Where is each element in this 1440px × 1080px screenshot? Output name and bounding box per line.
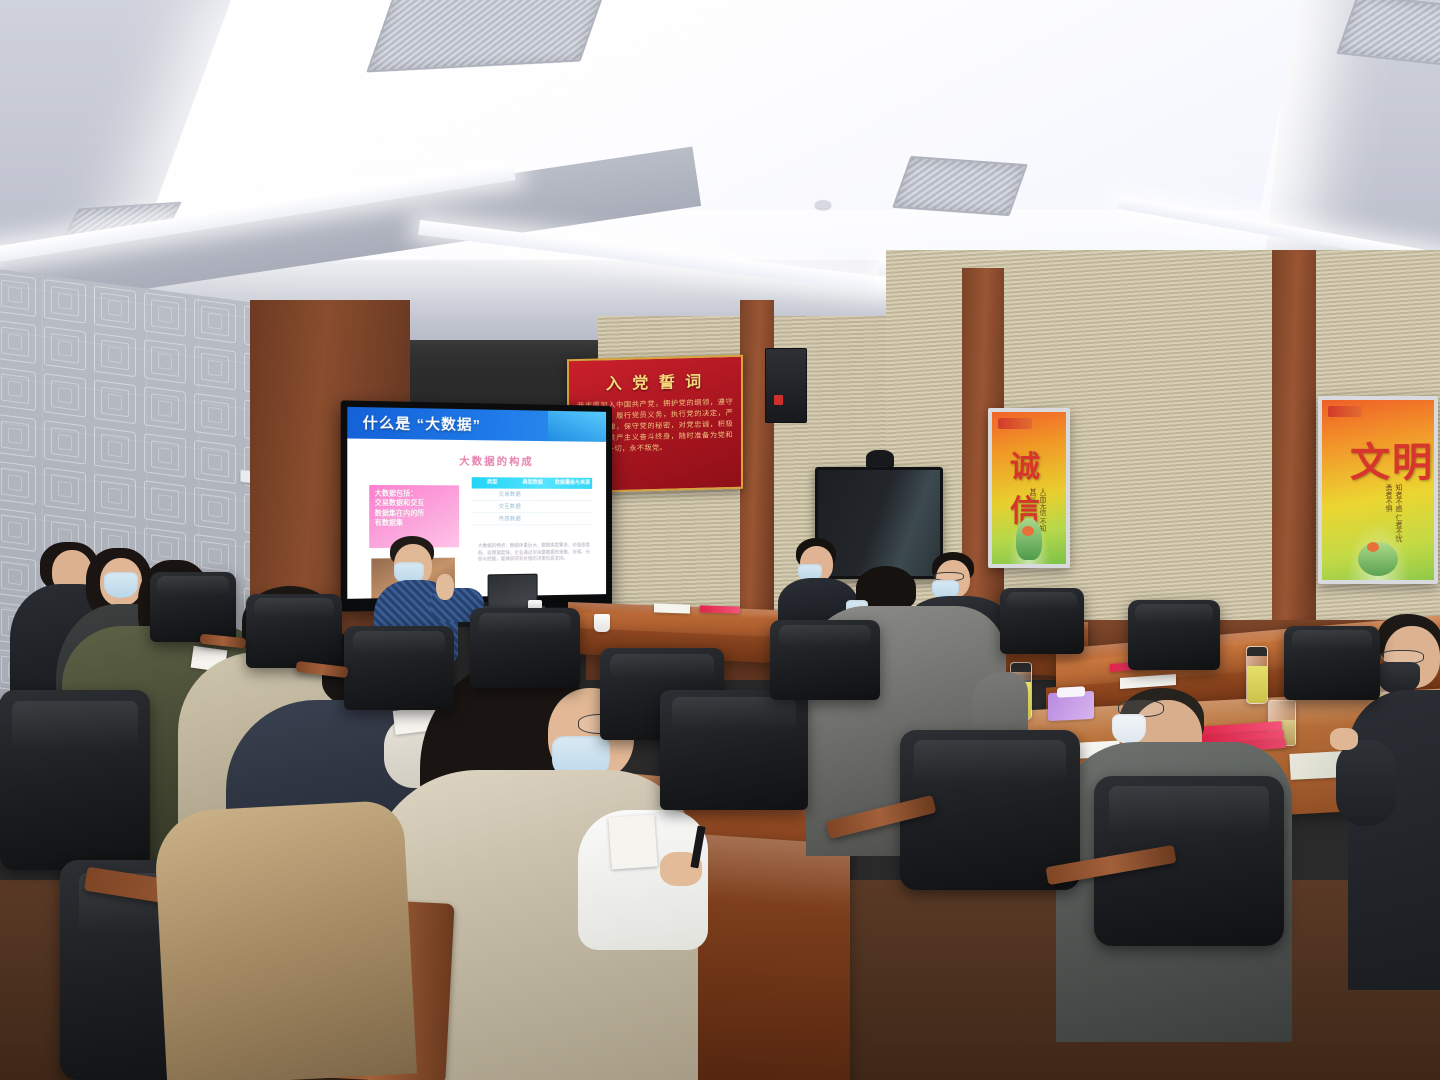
table-row: 传感数据 [472,513,592,526]
wall-pattern-square [0,508,36,553]
wall-pattern-square [44,467,86,512]
office-chair[interactable] [1000,588,1084,654]
office-chair[interactable] [0,690,150,870]
callout-line: 交易数据和交互 [375,499,454,509]
speaker-led-icon [774,395,783,405]
hand [1330,728,1358,750]
paper-cup [594,614,610,632]
slide-corner-decor [548,411,606,442]
office-chair[interactable] [1128,600,1220,670]
poster-brand-icon [1328,406,1362,417]
note-paper [608,814,658,869]
wall-pattern-square [144,480,186,525]
wood-column [1272,250,1316,650]
air-vent-icon [892,156,1028,216]
office-chair[interactable] [770,620,880,700]
slide-body: 大数据的构成 大数据包括： 交易数据和交互 数据集在内的所 有数据集 类型 典型… [347,438,606,598]
wall-pattern-square [194,346,236,391]
notepad [654,603,690,613]
slide-note-text: 大数据的特点：数据体量巨大、数据类型繁多、价值密度低、处理速度快。企业通过对海量… [478,542,592,563]
civility-poster: 文明 知者不惑 仁者不忧 勇者不惧 [1318,396,1438,584]
poster-flower-icon [1367,542,1379,552]
wall-speaker [765,348,807,423]
callout-line: 数据集在内的所 [375,509,454,519]
table-column-header: 数据量级与来源 [553,478,592,489]
wall-pattern-square [0,273,36,318]
office-chair[interactable] [246,594,342,668]
wall-pattern-square [0,320,36,365]
wall-pattern-square [0,367,36,412]
wall-pattern-square [0,461,36,506]
wall-pattern-square [144,292,186,337]
slide-section-heading: 大数据的构成 [459,452,534,468]
wall-pattern-square [0,555,36,600]
wall-pattern-square [94,380,136,425]
tea-bottle [1246,646,1268,704]
poster-flower-icon [1022,526,1034,536]
wall-pattern-square [194,487,236,532]
poster-leaf-icon [1016,518,1042,560]
slide-table: 类型 典型数据 数据量级与来源 交易数据 交互数据 传感数据 [472,477,592,525]
smoke-detector-icon [815,200,831,209]
wall-pattern-square [194,299,236,344]
table-column-header: 类型 [472,477,513,488]
wall-pattern-square [44,326,86,371]
red-folder [700,605,740,613]
arm [1336,740,1396,826]
slide-header-bar: 什么是 “大数据” [347,407,606,442]
meeting-room-scene: 入 党 誓 词 我志愿加入中国共产党，拥护党的纲领，遵守党的章程，履行党员义务，… [0,0,1440,1080]
office-chair[interactable] [660,690,808,810]
wall-pattern-square [44,373,86,418]
table-row: 交互数据 [472,501,592,513]
wall-pattern-square [94,474,136,519]
table-column-header: 典型数据 [513,477,553,488]
hand [436,574,454,600]
office-chair[interactable] [1284,626,1380,700]
callout-line: 有数据集 [375,519,454,529]
wall-pattern-square [144,386,186,431]
poster-headline: 文明 [1350,430,1434,488]
wall-pattern-square [144,433,186,478]
integrity-poster: 诚信 人而无信 不知其可 [988,408,1070,568]
poster-brand-icon [998,418,1032,429]
table-header-row: 类型 典型数据 数据量级与来源 [472,477,592,489]
air-vent-icon [366,0,614,72]
callout-line: 大数据包括： [375,489,454,499]
wall-pattern-square [194,440,236,485]
wall-pattern-square [94,333,136,378]
table-row: 交易数据 [472,489,592,501]
office-chair[interactable] [470,608,580,688]
wall-pattern-square [94,286,136,331]
wall-pattern-square [194,393,236,438]
presentation-display[interactable]: 什么是 “大数据” 大数据的构成 大数据包括： 交易数据和交互 数据集在内的所 … [341,400,612,611]
slide-canvas: 什么是 “大数据” 大数据的构成 大数据包括： 交易数据和交互 数据集在内的所 … [347,407,606,599]
torso [1348,690,1440,990]
wall-pattern-square [44,279,86,324]
party-oath-title: 入 党 誓 词 [577,367,733,395]
wall-pattern-square [144,339,186,384]
wall-pattern-square [44,420,86,465]
tissue-box [1048,691,1094,721]
face-mask [1112,714,1146,744]
wall-pattern-square [94,427,136,472]
face-mask [104,572,138,598]
slide-title: 什么是 “大数据” [363,412,481,435]
wall-mounted-monitor[interactable] [815,467,943,579]
wall-pattern-square [0,414,36,459]
draped-coat [153,800,417,1080]
office-chair[interactable] [344,626,454,710]
office-chair[interactable] [150,572,236,642]
